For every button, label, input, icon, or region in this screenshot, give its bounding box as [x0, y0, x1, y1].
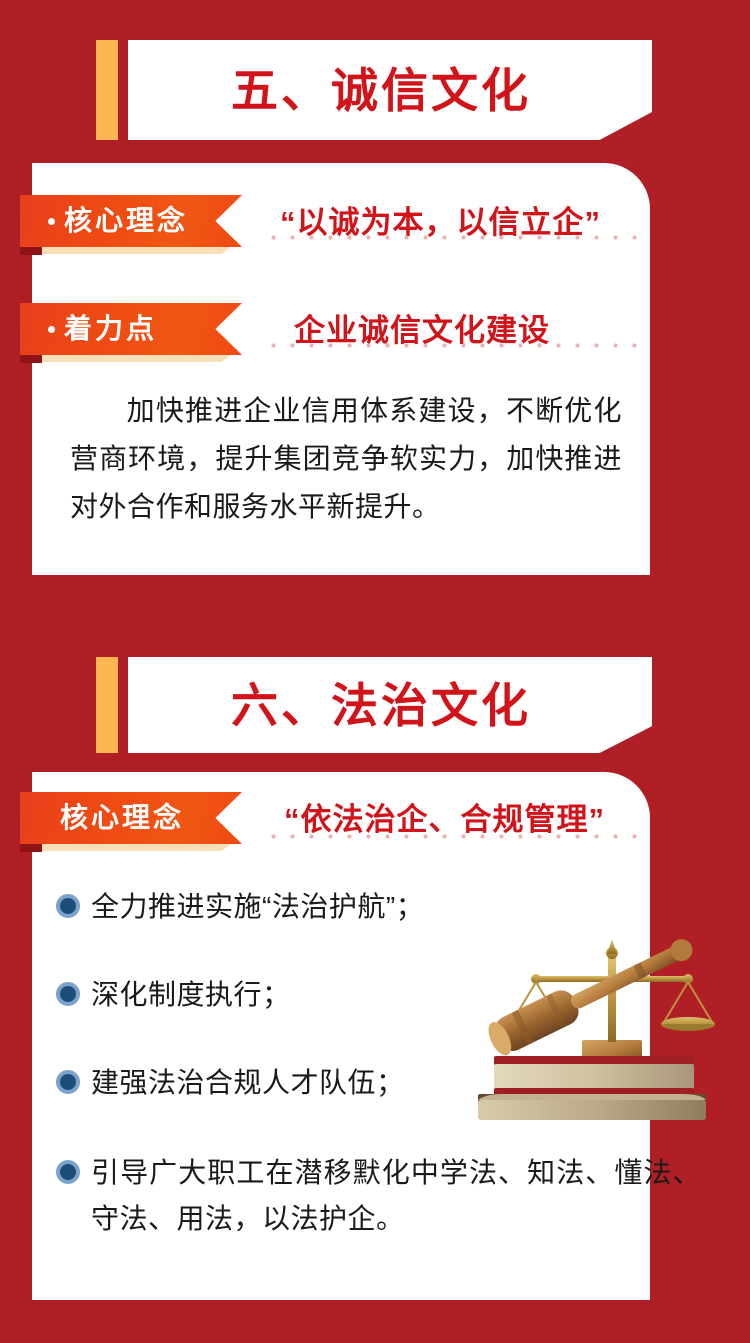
section-title-six: 六、法治文化: [231, 682, 531, 729]
banner-gap: [118, 657, 128, 753]
section-title-five: 五、诚信文化: [231, 67, 531, 114]
content-card-six: 核心理念 “依法治企、合规管理” 全力推进实施“法治护航”； 深化制度执行； 建…: [32, 772, 650, 1300]
banner-accent-bar: [96, 40, 118, 140]
ribbon-body: 核心理念: [20, 195, 242, 247]
ribbon-body: 核心理念: [20, 792, 242, 844]
banner-accent-bar: [96, 657, 118, 753]
bullet-text: 建强法治合规人才队伍；: [91, 1060, 405, 1106]
bullet-text: 深化制度执行；: [91, 972, 291, 1018]
list-item: 深化制度执行；: [56, 972, 291, 1018]
dotted-divider-three: [264, 834, 642, 839]
banner-plate: 六、法治文化: [128, 657, 652, 753]
ribbon-label: 核心理念: [60, 804, 184, 832]
banner-gap: [118, 40, 128, 140]
section-banner-six: 六、法治文化: [96, 657, 652, 753]
content-card-five: 核心理念 “以诚为本，以信立企” 着力点 企业诚信文化建设 加快推进企业信用体系…: [32, 163, 650, 575]
ribbon-focus-point-five: 着力点: [20, 303, 244, 365]
core-idea-value-five: “以诚为本，以信立企”: [280, 207, 601, 238]
gavel-scales-illustration: [472, 922, 720, 1122]
dotted-divider-two: [264, 343, 642, 348]
bullet-text: 引导广大职工在潜移默化中学法、知法、懂法、守法、用法，以法护企。: [91, 1150, 701, 1242]
ribbon-bullet-dot: [48, 326, 55, 333]
section-banner-five: 五、诚信文化: [96, 40, 652, 140]
ribbon-core-idea-six: 核心理念: [20, 792, 244, 854]
law-books: [478, 1056, 706, 1120]
paragraph-text: 加快推进企业信用体系建设，不断优化营商环境，提升集团竞争软实力，加快推进对外合作…: [70, 395, 622, 522]
dotted-divider-one: [264, 235, 642, 240]
bullet-text: 全力推进实施“法治护航”；: [91, 884, 424, 930]
ribbon-label: 核心理念: [64, 207, 188, 235]
bullet-dot-icon: [56, 1160, 80, 1184]
ribbon-body: 着力点: [20, 303, 242, 355]
list-item: 建强法治合规人才队伍；: [56, 1060, 405, 1106]
ribbon-bullet-dot: [48, 218, 55, 225]
gavel: [484, 929, 699, 1059]
bullet-dot-icon: [56, 1070, 80, 1094]
banner-plate: 五、诚信文化: [128, 40, 652, 140]
core-idea-value-six: “依法治企、合规管理”: [284, 804, 605, 835]
bullet-dot-icon: [56, 982, 80, 1006]
poster-page: 五、诚信文化 核心理念 “以诚为本，以信立企” 着力点 企业诚信文化建设: [0, 0, 750, 1343]
list-item: 全力推进实施“法治护航”；: [56, 884, 424, 930]
ribbon-core-idea-five: 核心理念: [20, 195, 244, 257]
list-item: 引导广大职工在潜移默化中学法、知法、懂法、守法、用法，以法护企。: [56, 1150, 701, 1242]
focus-point-value-five: 企业诚信文化建设: [294, 315, 550, 346]
gavel-scales-icon: [472, 922, 720, 1122]
ribbon-label: 着力点: [64, 315, 157, 343]
bullet-dot-icon: [56, 894, 80, 918]
section-five-paragraph: 加快推进企业信用体系建设，不断优化营商环境，提升集团竞争软实力，加快推进对外合作…: [70, 387, 622, 531]
